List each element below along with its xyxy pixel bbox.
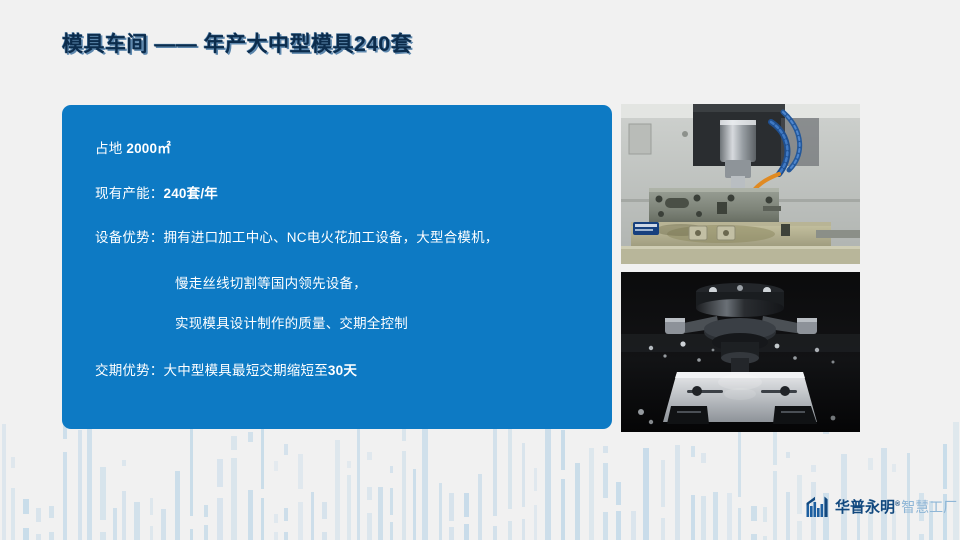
- card-line-equipment-2: 慢走丝线切割等国内领先设备，: [95, 277, 594, 291]
- logo-tagline: 智慧工厂: [901, 500, 957, 514]
- card-line-area: 占地 2000㎡: [95, 142, 594, 156]
- page-title: 模具车间 —— 年产大中型模具240套: [62, 28, 412, 58]
- logo-company-name: 华普永明®: [835, 500, 900, 515]
- factory-bars-logo-icon: [806, 496, 830, 518]
- card-line-text: 占地: [95, 141, 126, 156]
- photo-cnc-machining-center: [621, 104, 860, 264]
- logo-company-text: 华普永明: [835, 499, 895, 516]
- logo-trademark-symbol: ®: [895, 501, 900, 508]
- card-line-text: 现有产能：: [95, 186, 164, 201]
- card-line-text: 设备优势：拥有进口加工中心、NC电火花加工设备，大型合模机，: [95, 230, 499, 245]
- card-line-text: 交期优势：大中型模具最短交期缩短至: [95, 363, 328, 378]
- card-line-text: 实现模具设计制作的质量、交期全控制: [175, 316, 408, 331]
- card-line-lead-time: 交期优势：大中型模具最短交期缩短至30天: [95, 364, 594, 378]
- info-card-text-block: 占地 2000㎡现有产能：240套/年设备优势：拥有进口加工中心、NC电火花加工…: [95, 133, 594, 377]
- card-line-capacity: 现有产能：240套/年: [95, 187, 594, 201]
- card-line-equipment-1: 设备优势：拥有进口加工中心、NC电火花加工设备，大型合模机，: [95, 231, 594, 245]
- slide-canvas: 模具车间 —— 年产大中型模具240套 占地 2000㎡现有产能：240套/年设…: [0, 0, 960, 540]
- brand-logo: 华普永明® 智慧工厂: [806, 494, 957, 520]
- card-line-emphasis: 30天: [328, 363, 357, 378]
- card-line-emphasis: 2000㎡: [126, 141, 171, 156]
- photo-cnc-spindle-dark: [621, 272, 860, 432]
- card-line-emphasis: 240套/年: [164, 186, 218, 201]
- card-line-equipment-3: 实现模具设计制作的质量、交期全控制: [95, 317, 594, 331]
- info-card: 占地 2000㎡现有产能：240套/年设备优势：拥有进口加工中心、NC电火花加工…: [62, 105, 612, 429]
- card-line-text: 慢走丝线切割等国内领先设备，: [175, 276, 367, 291]
